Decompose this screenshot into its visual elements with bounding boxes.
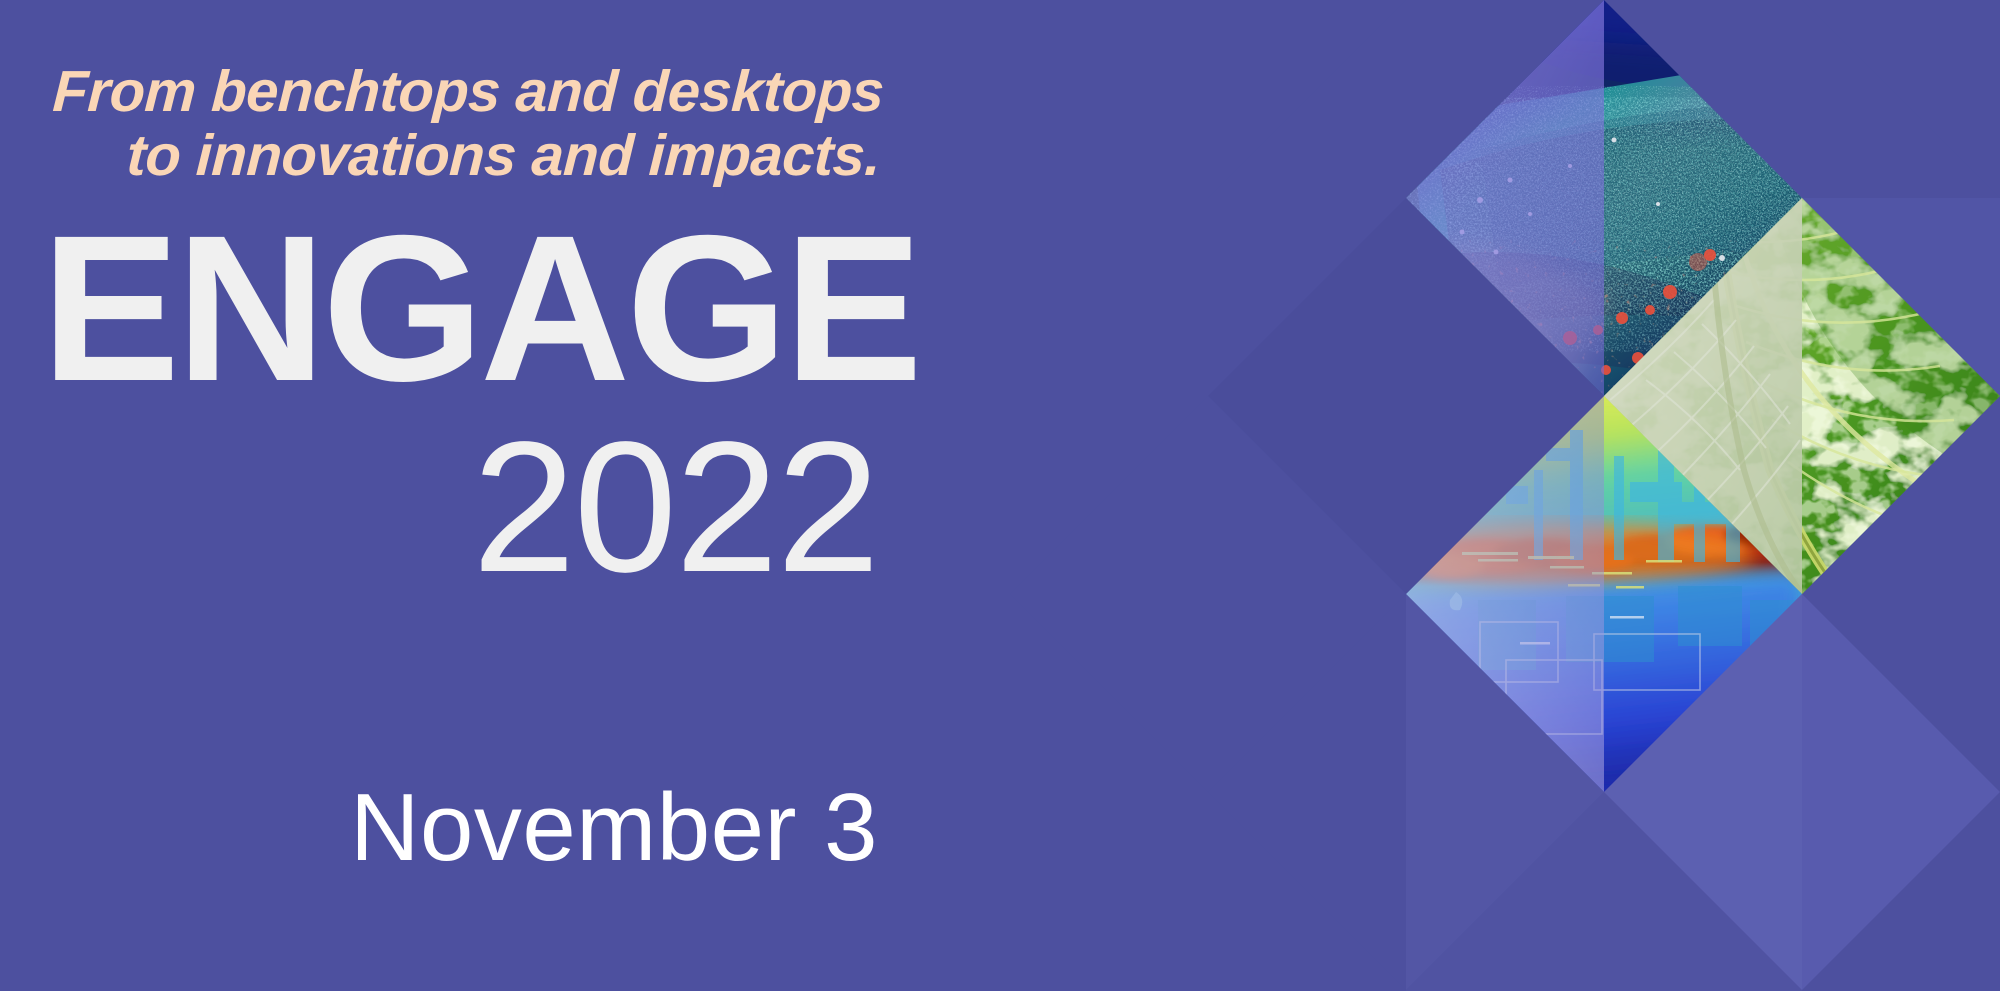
event-year: 2022 <box>0 415 960 601</box>
banner-text-block: From benchtops and desktops to innovatio… <box>0 0 1010 991</box>
tagline: From benchtops and desktops to innovatio… <box>0 60 963 188</box>
tagline-line-2: to innovations and impacts. <box>0 124 882 188</box>
diamond-image-collage <box>1010 0 2000 991</box>
engage-2022-banner: From benchtops and desktops to innovatio… <box>0 0 2000 991</box>
event-date: November 3 <box>0 780 960 876</box>
event-title: ENGAGE <box>0 205 960 413</box>
tagline-line-1: From benchtops and desktops <box>0 60 885 124</box>
